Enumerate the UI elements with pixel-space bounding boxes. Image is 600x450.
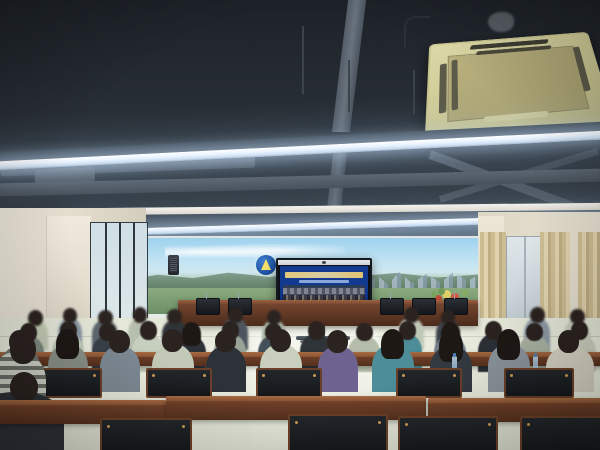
seat-back-f2[interactable] — [288, 414, 388, 450]
ac-conduit — [404, 16, 430, 48]
microphone-3 — [390, 292, 391, 299]
slide-title-banner — [285, 272, 362, 278]
microphone-1 — [206, 292, 207, 299]
seat-back-m4[interactable] — [396, 368, 462, 398]
display-bezel-camera — [278, 260, 370, 265]
ac-louver-1 — [439, 63, 447, 114]
ac-plastic-wrap — [488, 12, 514, 32]
ac-louver-2 — [452, 59, 458, 111]
seat-back-m3[interactable] — [256, 368, 322, 398]
delegate-monitor-1 — [196, 298, 220, 315]
seat-back-f3[interactable] — [398, 416, 498, 450]
microphone-4 — [454, 292, 455, 299]
microphone-2 — [238, 292, 239, 299]
ceiling-pipe-2 — [348, 60, 350, 112]
seat-back-m5[interactable] — [504, 368, 574, 398]
seat-back-f1[interactable] — [100, 418, 192, 450]
seat-back-f4[interactable] — [520, 416, 600, 450]
safety-emblem-icon — [256, 255, 276, 275]
seat-back-m2[interactable] — [146, 368, 212, 398]
slide-subtitle-line — [299, 280, 348, 283]
delegate-monitor-3 — [380, 298, 404, 315]
ceiling-pipe-3 — [413, 70, 415, 114]
ceiling-pipe-1 — [302, 26, 304, 94]
wall-speaker-icon — [168, 255, 179, 275]
conference-hall-photo — [0, 0, 600, 450]
ac-filter-grille — [447, 46, 589, 122]
